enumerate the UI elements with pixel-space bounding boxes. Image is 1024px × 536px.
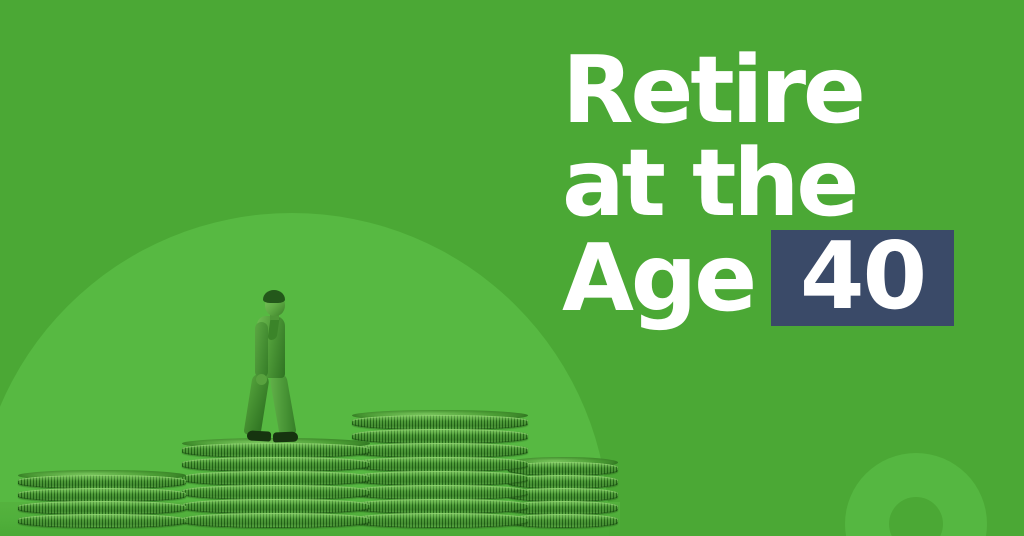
businessman-figurine [243,290,301,450]
headline-block: Retire at the Age 40 [562,44,1002,326]
headline-line-3: Age 40 [562,230,1002,326]
figurine-hand [256,374,267,385]
coin [352,513,528,528]
coin [182,513,370,528]
headline-line-2: at the [562,137,1002,230]
figurine-arm [255,322,268,378]
coin [182,485,370,500]
retirement-banner: Retire at the Age 40 [0,0,1024,536]
coin-stack-left [18,476,186,528]
age-number-badge: 40 [771,230,954,326]
coin [18,514,186,528]
coin [182,471,370,486]
coin [182,499,370,514]
headline-line-1: Retire [562,44,1002,137]
figurine-back-shoe [247,430,271,441]
coin-stack-middle [182,444,370,528]
coin [18,488,186,502]
coin [352,429,528,444]
figurine-hair [263,290,285,303]
headline-word-age: Age [562,232,754,325]
coin [352,499,528,514]
coin-stack-photo [0,150,620,536]
coin [352,471,528,486]
coin [352,457,528,472]
coin [352,485,528,500]
coin [352,443,528,458]
coin [352,415,528,430]
figurine-front-leg [269,373,297,437]
coin-stack-right [352,416,528,528]
figurine-front-shoe [273,432,298,443]
coin [182,457,370,472]
coin [18,475,186,489]
coin [18,501,186,515]
